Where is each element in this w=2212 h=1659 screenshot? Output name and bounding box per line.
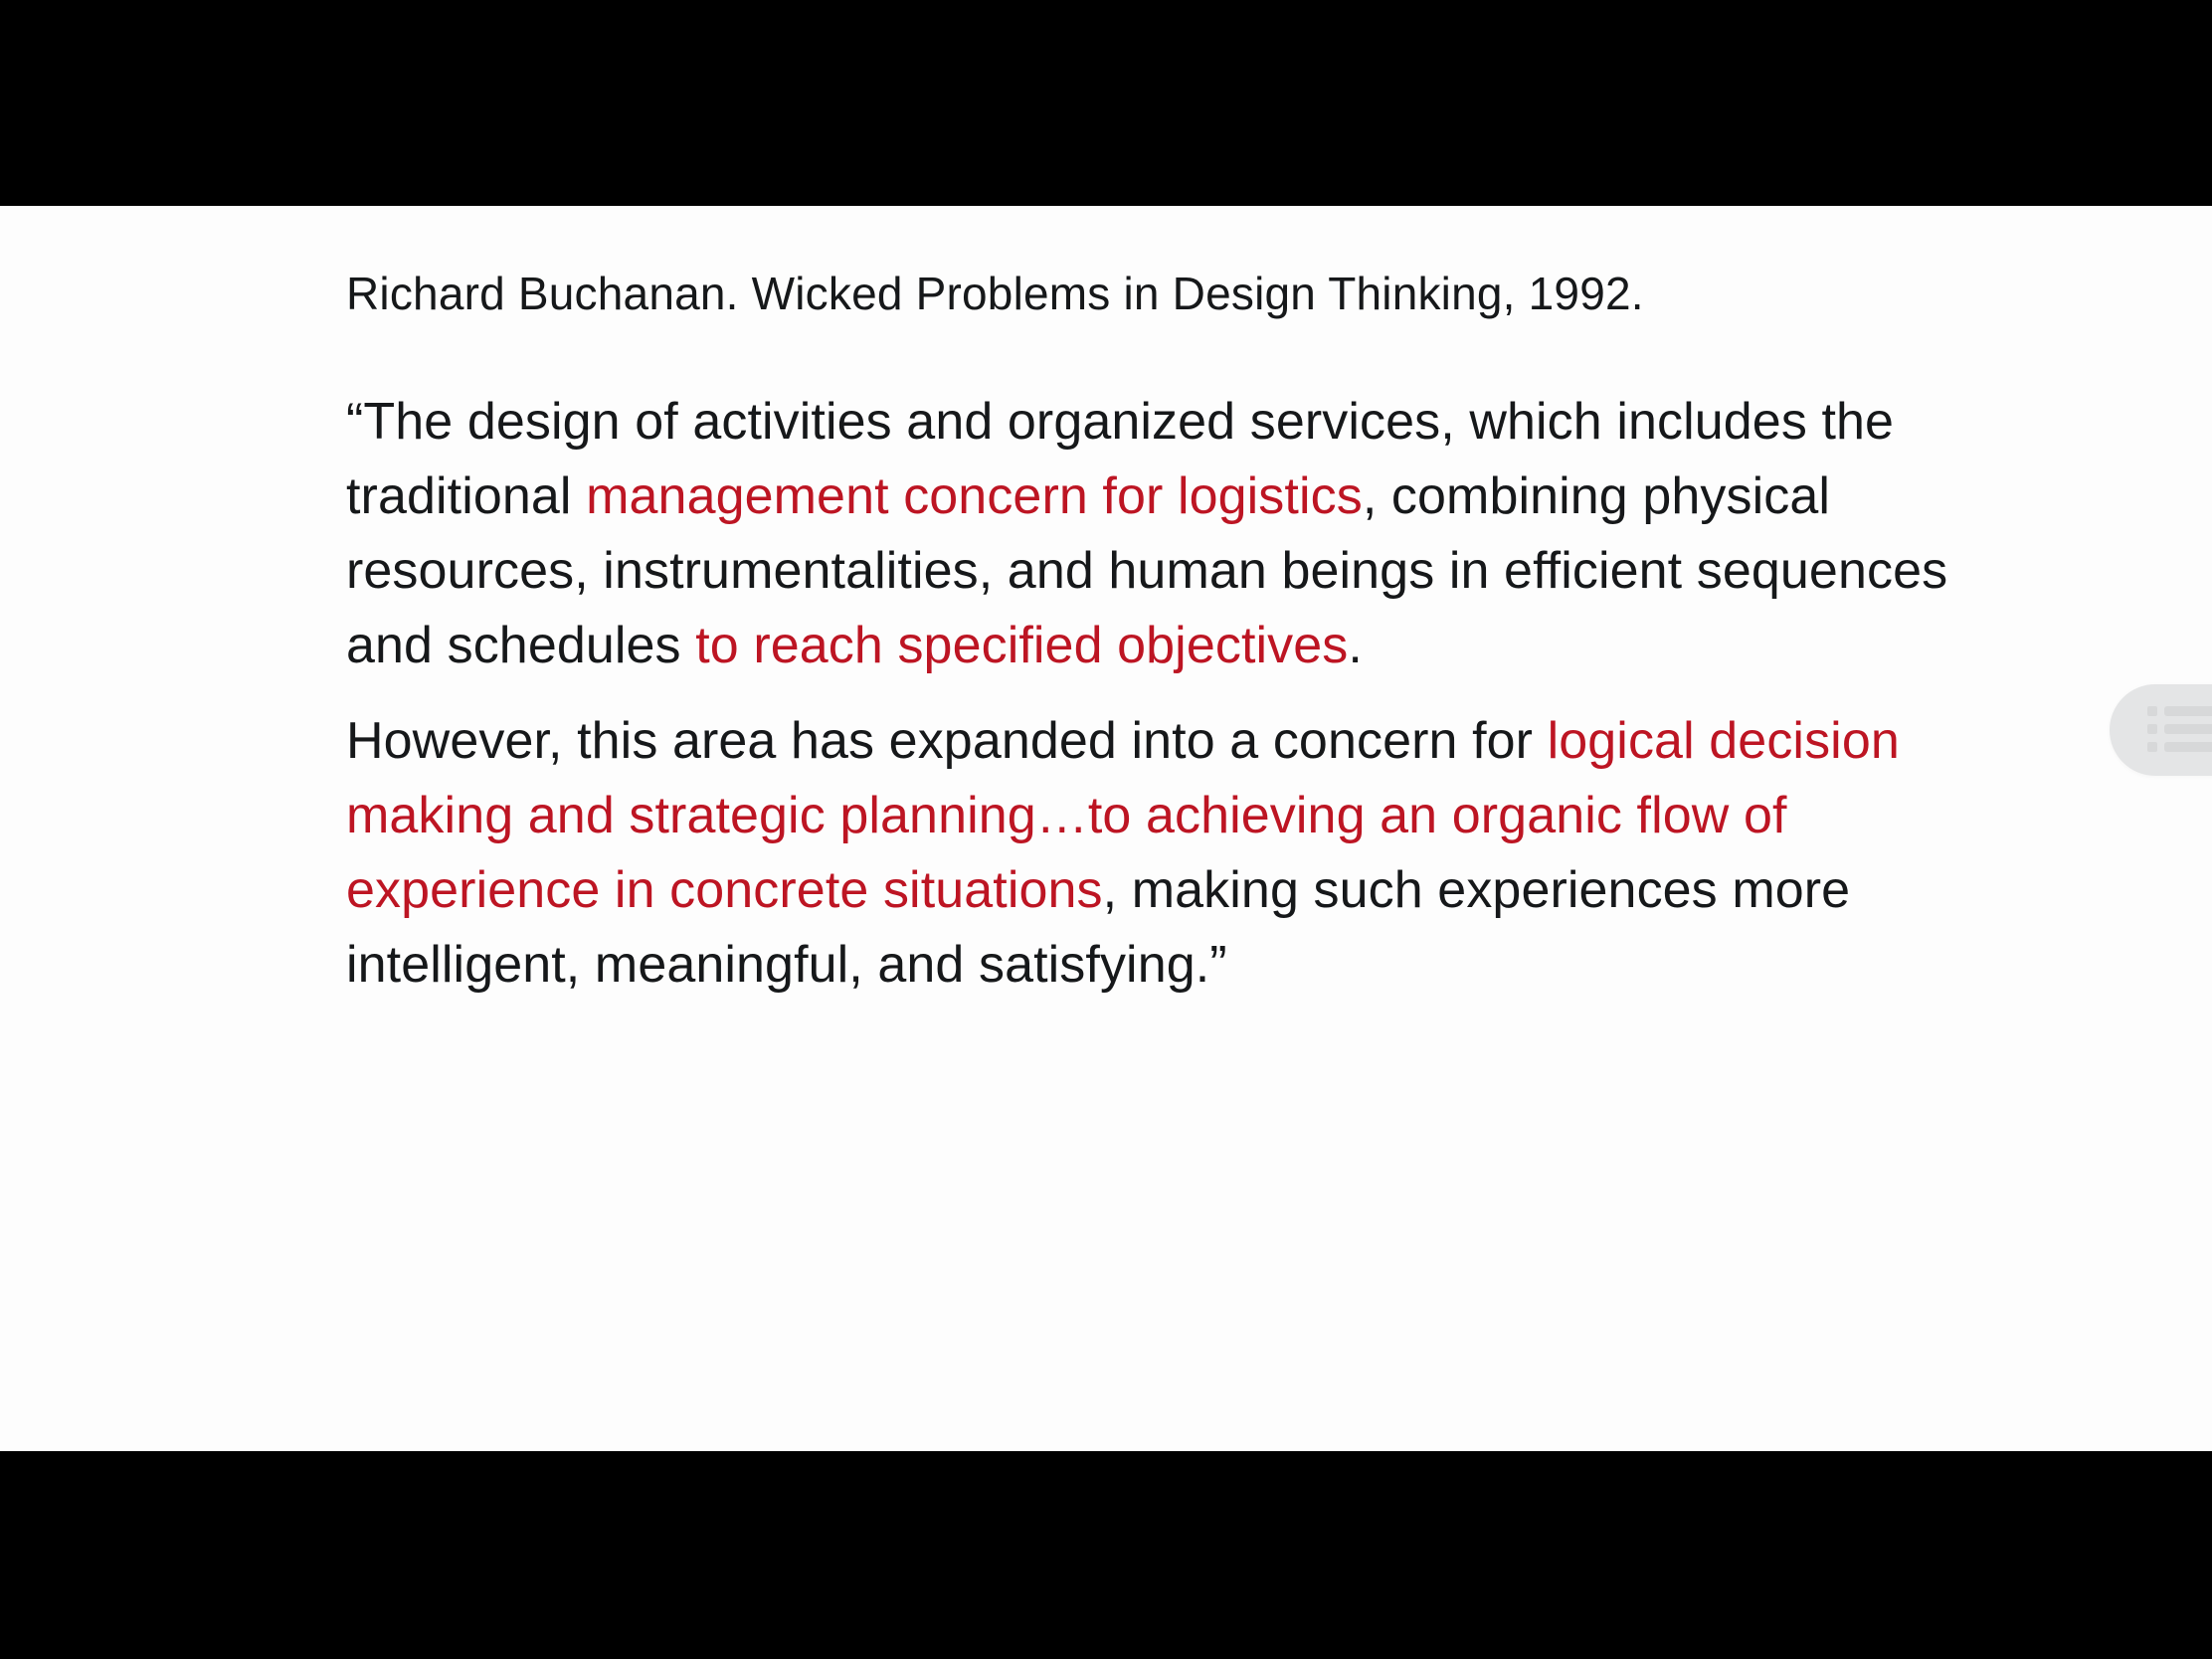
slide-canvas[interactable]: Richard Buchanan. Wicked Problems in Des… [0,206,2212,1451]
quote-paragraph-2: However, this area has expanded into a c… [346,704,1962,1003]
list-line [2164,724,2212,734]
quote-paragraph-1: “The design of activities and organized … [346,385,1962,683]
slide-citation: Richard Buchanan. Wicked Problems in Des… [346,266,1962,321]
highlighted-phrase: management concern for logistics [586,467,1363,525]
quote-block: “The design of activities and organized … [346,385,1962,1003]
list-row [2147,724,2212,734]
list-bullet [2147,706,2157,716]
quote-text: However, this area has expanded into a c… [346,712,1548,770]
presentation-viewport: Richard Buchanan. Wicked Problems in Des… [0,0,2212,1659]
list-row [2147,706,2212,716]
letterbox-bottom-bar [0,1451,2212,1659]
list-row [2147,742,2212,752]
list-line [2164,742,2212,752]
list-line [2164,706,2212,716]
list-bullet [2147,724,2157,734]
list-bullet [2147,742,2157,752]
list-lines-icon [2147,706,2212,754]
quote-text: . [1348,617,1363,674]
letterbox-top-bar [0,0,2212,206]
highlighted-phrase: to reach specified objectives [695,617,1348,674]
side-panel-toggle[interactable] [2110,684,2212,776]
